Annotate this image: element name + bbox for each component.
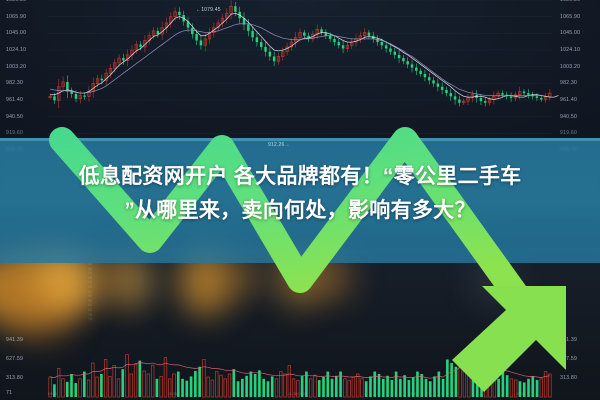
price-tick-right: 961.40 (560, 97, 577, 103)
price-tick-left: 1086.80 (6, 0, 26, 3)
price-chart (0, 0, 600, 150)
x-tick-label: 15:00 (516, 392, 525, 396)
volume-tick-left: 313.80 (6, 375, 23, 381)
volume-tick-left: 627.59 (6, 356, 23, 362)
price-tick-right: 1065.90 (560, 14, 580, 20)
volume-tick-right: 313.80 (560, 375, 577, 381)
headline-text: 低息配资网开户 各大品牌都有！“零公里二手车 ”从哪里来，卖向何处，影响有多大？ (0, 160, 600, 228)
price-tick-left: 1003.20 (6, 64, 26, 70)
price-tick-right: 1003.20 (560, 64, 580, 70)
price-tick-left: 940.50 (6, 114, 23, 120)
price-tick-right: 982.30 (560, 80, 577, 86)
price-tick-right: 919.60 (560, 130, 577, 136)
annotation-high: ←1079.45 (196, 7, 221, 13)
volume-tick-left: 941.39 (6, 337, 23, 343)
x-tick-label: 11:30/13:00 (288, 392, 307, 396)
price-tick-left: 1065.90 (6, 14, 26, 20)
price-tick-left: 961.40 (6, 97, 23, 103)
price-tick-right: 940.50 (560, 114, 577, 120)
price-tick-left: 1024.10 (6, 47, 26, 53)
volume-tick-right: 627.59 (560, 356, 577, 362)
banner-top-edge (0, 138, 600, 141)
x-tick-label: 14:00 (408, 392, 417, 396)
volume-tick-right: 941.39 (560, 337, 577, 343)
price-tick-right: 1045.00 (560, 30, 580, 36)
volume-chart (0, 338, 600, 400)
headline-line-2: ”从哪里来，卖向何处，影响有多大？ (0, 194, 600, 228)
price-tick-right: 1086.80 (560, 0, 580, 3)
price-tick-left: 982.30 (6, 80, 23, 86)
x-tick-label: 09:30 (48, 392, 57, 396)
price-tick-right: 1024.10 (560, 47, 580, 53)
x-axis-labels: 09:3010:3011:30/13:0014:0015:00 (0, 392, 600, 400)
headline-line-1: 低息配资网开户 各大品牌都有！“零公里二手车 (79, 165, 522, 188)
chart-screenshot: 1086.801065.901045.001024.101003.20982.3… (0, 0, 600, 400)
price-tick-left: 1045.00 (6, 30, 26, 36)
annotation-low: 912.26→ (268, 142, 290, 148)
faint-tick-column: 30252015100500959085807570 (88, 262, 92, 322)
price-tick-left: 919.60 (6, 130, 23, 136)
x-tick-label: 10:30 (168, 392, 177, 396)
